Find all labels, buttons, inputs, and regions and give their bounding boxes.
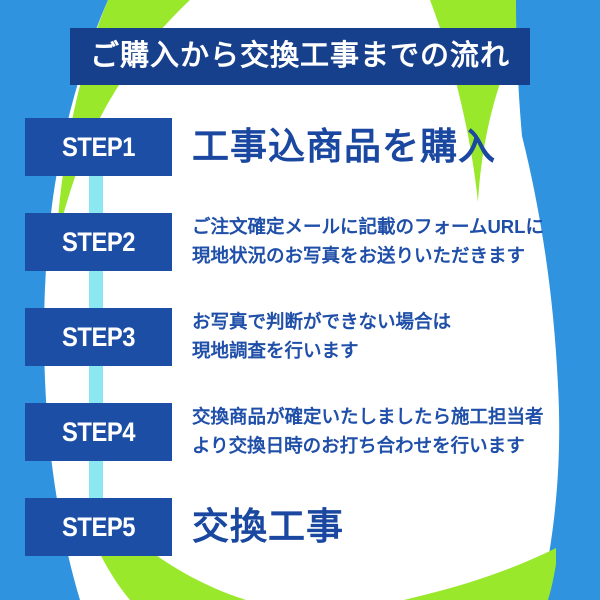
step-list: STEP1 工事込商品を購入 STEP2 ご注文確定メールに記載のフォームURL…: [0, 118, 600, 593]
step-row: STEP5 交換工事: [0, 498, 600, 572]
step-text-line: より交換日時のお打ち合わせを行います: [192, 432, 588, 461]
step-badge-label: STEP5: [62, 514, 135, 541]
step-badge-label: STEP1: [62, 134, 135, 161]
step-row: STEP1 工事込商品を購入: [0, 118, 600, 192]
step-text-line: お写真で判断ができない場合は: [192, 308, 588, 337]
step-badge-3: STEP3: [25, 308, 172, 366]
step-badge-1: STEP1: [25, 118, 172, 176]
step-content-1: 工事込商品を購入: [192, 118, 588, 176]
step-badge-label: STEP3: [62, 324, 135, 351]
step-badge-2: STEP2: [25, 213, 172, 271]
step-content-2: ご注文確定メールに記載のフォームURLに 現地状況のお写真をお送りいただきます: [192, 213, 588, 271]
step-headline: 交換工事: [192, 508, 588, 547]
page-title-banner: ご購入から交換工事までの流れ: [70, 28, 530, 85]
step-content-5: 交換工事: [192, 498, 588, 556]
step-content-3: お写真で判断ができない場合は 現地調査を行います: [192, 308, 588, 366]
step-headline: 工事込商品を購入: [192, 128, 588, 167]
step-row: STEP4 交換商品が確定いたしましたら施工担当者 より交換日時のお打ち合わせを…: [0, 403, 600, 477]
step-badge-5: STEP5: [25, 498, 172, 556]
infographic-canvas: ご購入から交換工事までの流れ STEP1 工事込商品を購入 STEP2 ご注文確…: [0, 0, 600, 600]
step-text-line: 現地状況のお写真をお送りいただきます: [192, 242, 588, 271]
step-row: STEP2 ご注文確定メールに記載のフォームURLに 現地状況のお写真をお送りい…: [0, 213, 600, 287]
page-title: ご購入から交換工事までの流れ: [90, 42, 510, 71]
step-text-line: 交換商品が確定いたしましたら施工担当者: [192, 403, 588, 432]
step-badge-4: STEP4: [25, 403, 172, 461]
step-text-line: 現地調査を行います: [192, 337, 588, 366]
step-badge-label: STEP4: [62, 419, 135, 446]
step-badge-label: STEP2: [62, 229, 135, 256]
step-content-4: 交換商品が確定いたしましたら施工担当者 より交換日時のお打ち合わせを行います: [192, 403, 588, 461]
step-text-line: ご注文確定メールに記載のフォームURLに: [192, 213, 588, 242]
step-row: STEP3 お写真で判断ができない場合は 現地調査を行います: [0, 308, 600, 382]
